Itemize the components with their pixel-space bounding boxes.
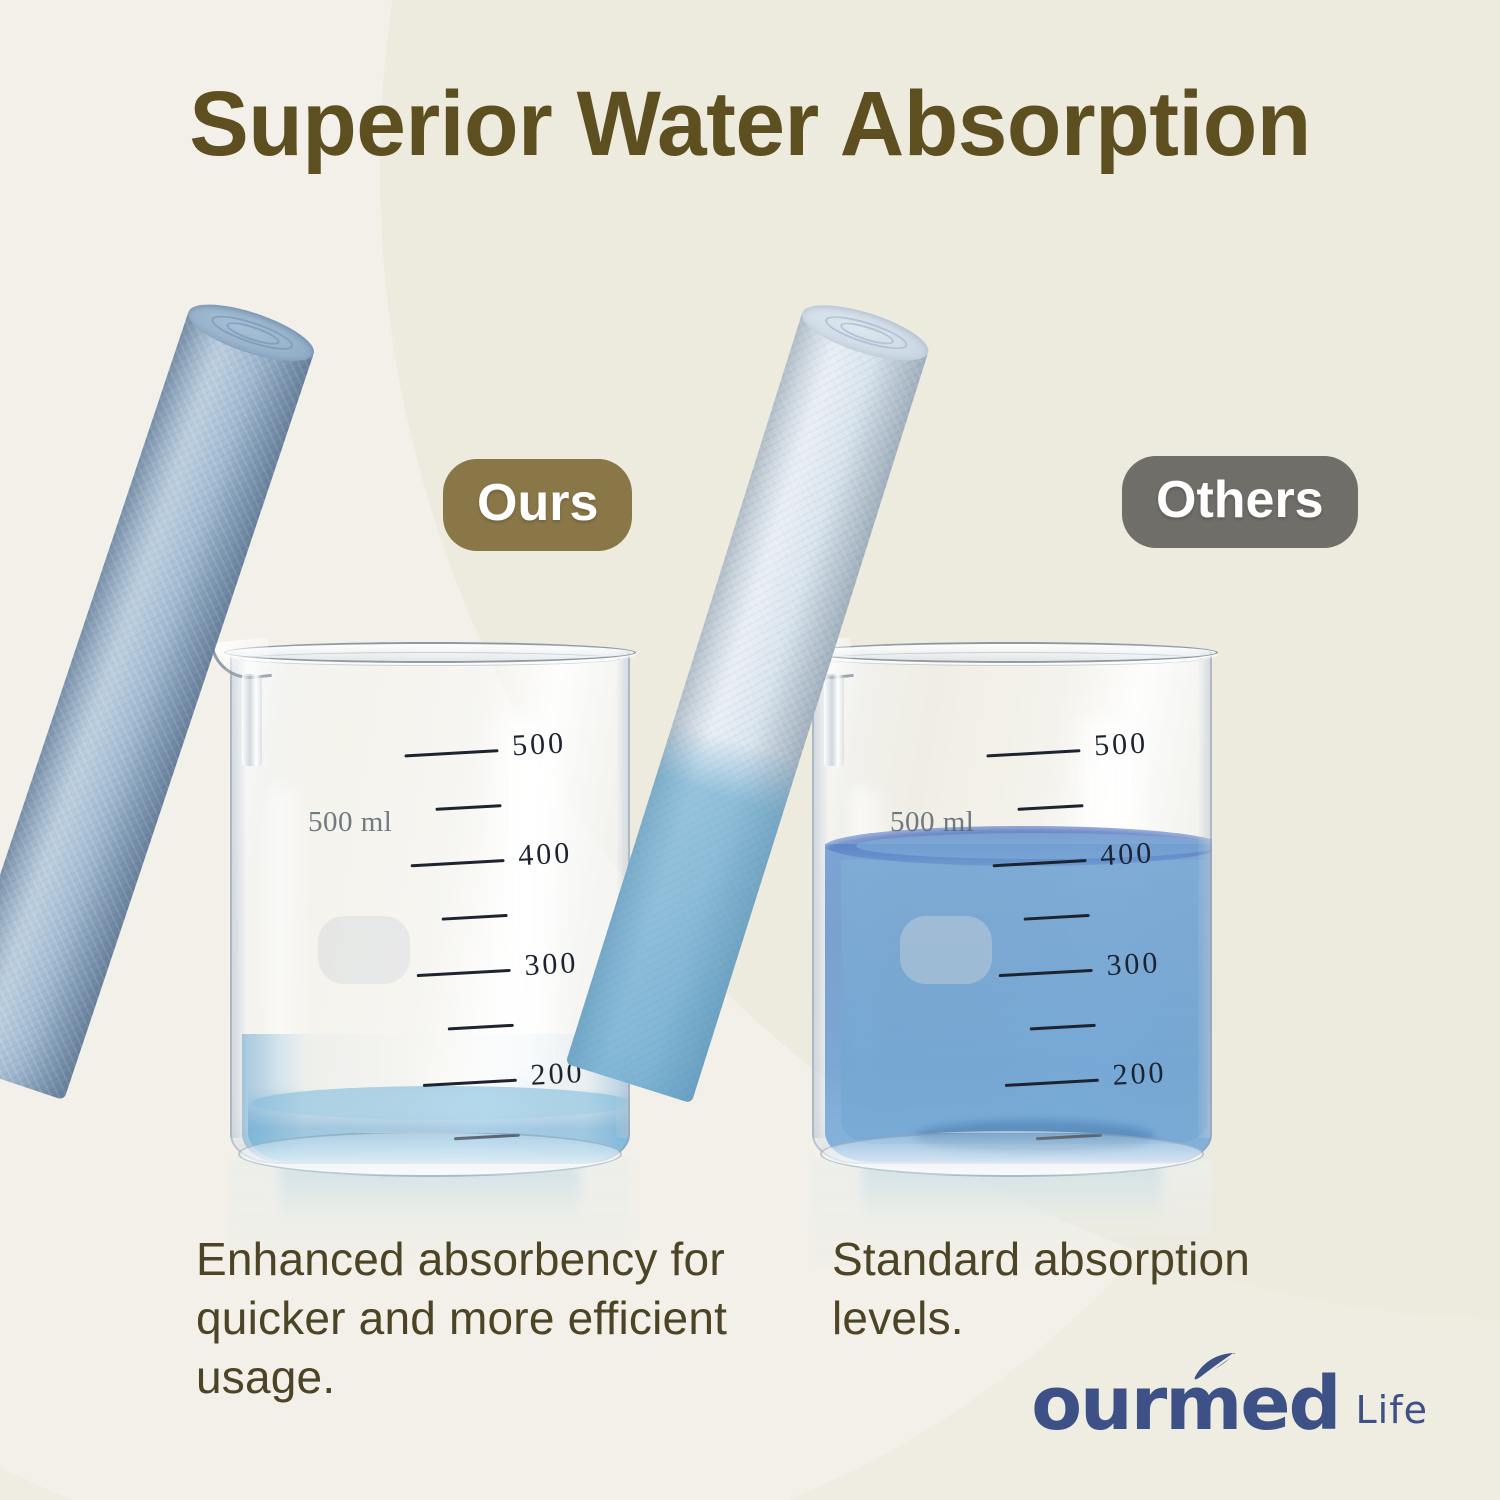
grad-major-200 — [1005, 1079, 1099, 1087]
beaker-others: 500 ml 500 400 300 — [800, 622, 1224, 1167]
comparison-panel-others: 500 ml 500 400 300 — [0, 0, 1500, 1500]
grad-label-400: 400 — [1099, 836, 1155, 873]
grad-minor-450 — [1017, 804, 1083, 811]
beaker-capacity-label-others: 500 ml — [890, 806, 974, 839]
grad-major-300 — [999, 969, 1093, 977]
grad-label-300: 300 — [1106, 946, 1162, 983]
grad-major-500 — [986, 749, 1080, 757]
grad-minor-350 — [1024, 914, 1090, 921]
grad-label-200: 200 — [1112, 1056, 1168, 1093]
grad-minor-250 — [1030, 1024, 1096, 1031]
beaker-label-patch — [900, 916, 992, 984]
caption-others: Standard absorption levels. — [832, 1230, 1352, 1348]
logo-suffix-text: Life — [1356, 1388, 1429, 1438]
leaf-icon — [1183, 1340, 1239, 1408]
badge-others[interactable]: Others — [1122, 456, 1358, 548]
beaker-base — [820, 1131, 1204, 1177]
infographic-canvas: Superior Water Absorption 500 ml 500 — [0, 0, 1500, 1500]
grad-major-400 — [993, 859, 1087, 867]
brand-logo[interactable]: ourmed Life — [1031, 1370, 1428, 1438]
beaker-graduations-others: 500 400 300 200 — [986, 742, 1212, 1164]
beaker-spout-ridge — [824, 674, 844, 766]
roll-submerged-section — [565, 720, 799, 1103]
beaker-glass-body: 500 ml 500 400 300 — [812, 648, 1212, 1164]
logo-wordmark: ourmed — [1031, 1370, 1339, 1438]
grad-label-500: 500 — [1093, 726, 1149, 763]
beaker-rim-inner — [822, 652, 1202, 666]
